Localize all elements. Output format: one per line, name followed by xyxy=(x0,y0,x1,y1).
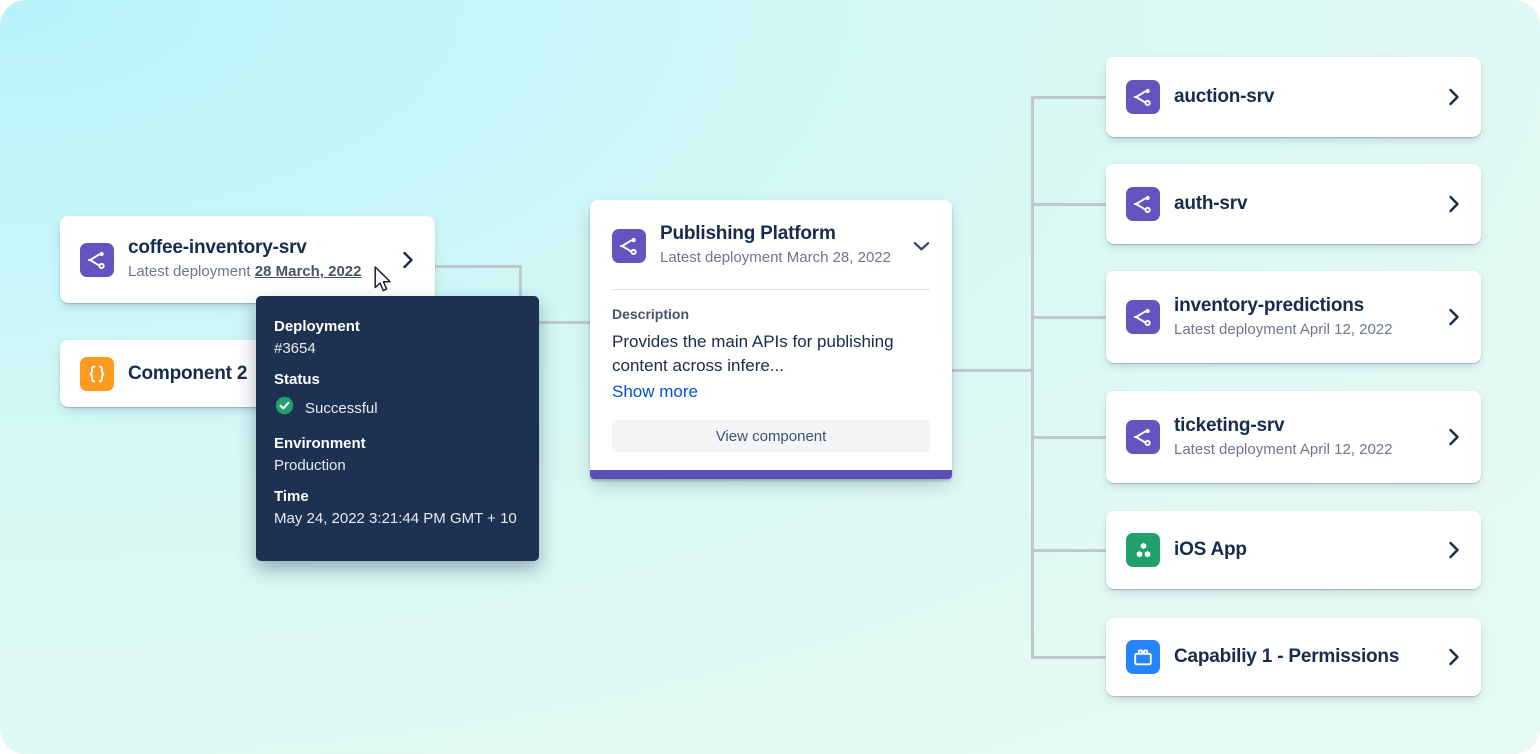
card-body: Capabiliy 1 - Permissions xyxy=(1174,645,1438,669)
component-card-coffee-inventory-srv[interactable]: coffee-inventory-srv Latest deployment 2… xyxy=(60,216,435,303)
description-label: Description xyxy=(612,306,930,322)
component-card-auth-srv[interactable]: auth-srv xyxy=(1106,164,1481,244)
center-card-content: Description Provides the main APIs for p… xyxy=(590,290,952,470)
chevron-right-icon[interactable] xyxy=(402,251,415,269)
connector-right-trunk xyxy=(1031,96,1034,658)
center-card-header: Publishing Platform Latest deployment Ma… xyxy=(590,200,952,269)
card-title: Publishing Platform xyxy=(660,222,903,246)
card-accent-bar xyxy=(590,470,952,479)
tooltip-group-status: Status Successful xyxy=(274,371,519,421)
card-title: auction-srv xyxy=(1174,85,1438,109)
chevron-right-icon[interactable] xyxy=(1448,195,1461,213)
connector-branch-ticketing xyxy=(1031,436,1107,439)
component-card-inventory-predictions[interactable]: inventory-predictions Latest deployment … xyxy=(1106,271,1481,363)
deployment-label: Deployment xyxy=(274,318,519,335)
deployment-value: #3654 xyxy=(274,340,519,357)
chevron-right-icon[interactable] xyxy=(1448,88,1461,106)
service-icon xyxy=(80,243,114,277)
card-body: Publishing Platform Latest deployment Ma… xyxy=(660,222,903,269)
connector-branch-auction xyxy=(1031,96,1107,99)
card-body: auth-srv xyxy=(1174,192,1438,216)
card-title: inventory-predictions xyxy=(1174,294,1438,318)
capability-toolbox-icon xyxy=(1126,640,1160,674)
tooltip-group-environment: Environment Production xyxy=(274,435,519,474)
subtitle-prefix: Latest deployment xyxy=(1174,441,1297,458)
card-subtitle: Latest deployment 28 March, 2022 xyxy=(128,261,392,283)
subtitle-prefix: Latest deployment xyxy=(1174,321,1297,338)
latest-deployment-date: April 12, 2022 xyxy=(1300,441,1393,458)
connector-branch-capability xyxy=(1031,656,1107,659)
subtitle-prefix: Latest deployment xyxy=(128,263,251,280)
card-title: iOS App xyxy=(1174,538,1438,562)
dependency-map-canvas: coffee-inventory-srv Latest deployment 2… xyxy=(0,0,1540,754)
tooltip-group-deployment: Deployment #3654 xyxy=(274,318,519,357)
tooltip-group-time: Time May 24, 2022 3:21:44 PM GMT + 10 xyxy=(274,488,519,527)
component-card-publishing-platform[interactable]: Publishing Platform Latest deployment Ma… xyxy=(590,200,952,479)
environment-label: Environment xyxy=(274,435,519,452)
environment-value: Production xyxy=(274,457,519,474)
status-value: Successful xyxy=(305,400,378,417)
connector-branch-ios xyxy=(1031,549,1107,552)
card-body: coffee-inventory-srv Latest deployment 2… xyxy=(128,236,392,283)
latest-deployment-date-link[interactable]: 28 March, 2022 xyxy=(255,263,362,280)
card-subtitle: Latest deployment March 28, 2022 xyxy=(660,247,903,269)
code-braces-icon xyxy=(80,357,114,391)
service-icon xyxy=(612,229,646,263)
check-circle-icon xyxy=(274,395,295,421)
service-icon xyxy=(1126,300,1160,334)
status-badge: Successful xyxy=(274,395,519,421)
time-label: Time xyxy=(274,488,519,505)
service-icon xyxy=(1126,187,1160,221)
service-icon xyxy=(1126,80,1160,114)
connector-left-top-horizontal xyxy=(435,265,522,268)
status-label: Status xyxy=(274,371,519,388)
card-body: ticketing-srv Latest deployment April 12… xyxy=(1174,414,1438,461)
service-icon xyxy=(1126,420,1160,454)
card-title: Capabiliy 1 - Permissions xyxy=(1174,645,1438,669)
view-component-button[interactable]: View component xyxy=(612,420,930,452)
description-text: Provides the main APIs for publishing co… xyxy=(612,330,930,378)
deployment-tooltip: Deployment #3654 Status Successful Envir… xyxy=(256,296,539,561)
chevron-down-icon[interactable] xyxy=(913,240,930,252)
chevron-right-icon[interactable] xyxy=(1448,541,1461,559)
chevron-right-icon[interactable] xyxy=(1448,648,1461,666)
card-title: ticketing-srv xyxy=(1174,414,1438,438)
component-card-ticketing-srv[interactable]: ticketing-srv Latest deployment April 12… xyxy=(1106,391,1481,483)
component-card-ios-app[interactable]: iOS App xyxy=(1106,511,1481,589)
show-more-link[interactable]: Show more xyxy=(612,382,930,402)
connector-branch-auth xyxy=(1031,203,1107,206)
card-body: inventory-predictions Latest deployment … xyxy=(1174,294,1438,341)
card-subtitle: Latest deployment April 12, 2022 xyxy=(1174,319,1438,341)
component-card-auction-srv[interactable]: auction-srv xyxy=(1106,57,1481,137)
time-value: May 24, 2022 3:21:44 PM GMT + 10 xyxy=(274,510,519,527)
connector-branch-inventory-predictions xyxy=(1031,316,1107,319)
component-card-capability-1-permissions[interactable]: Capabiliy 1 - Permissions xyxy=(1106,618,1481,696)
chevron-right-icon[interactable] xyxy=(1448,308,1461,326)
latest-deployment-date: April 12, 2022 xyxy=(1300,321,1393,338)
card-title: auth-srv xyxy=(1174,192,1438,216)
card-title: coffee-inventory-srv xyxy=(128,236,392,260)
chevron-right-icon[interactable] xyxy=(1448,428,1461,446)
card-body: iOS App xyxy=(1174,538,1438,562)
application-icon xyxy=(1126,533,1160,567)
card-body: auction-srv xyxy=(1174,85,1438,109)
card-subtitle: Latest deployment April 12, 2022 xyxy=(1174,439,1438,461)
connector-center-to-trunk xyxy=(952,369,1034,372)
